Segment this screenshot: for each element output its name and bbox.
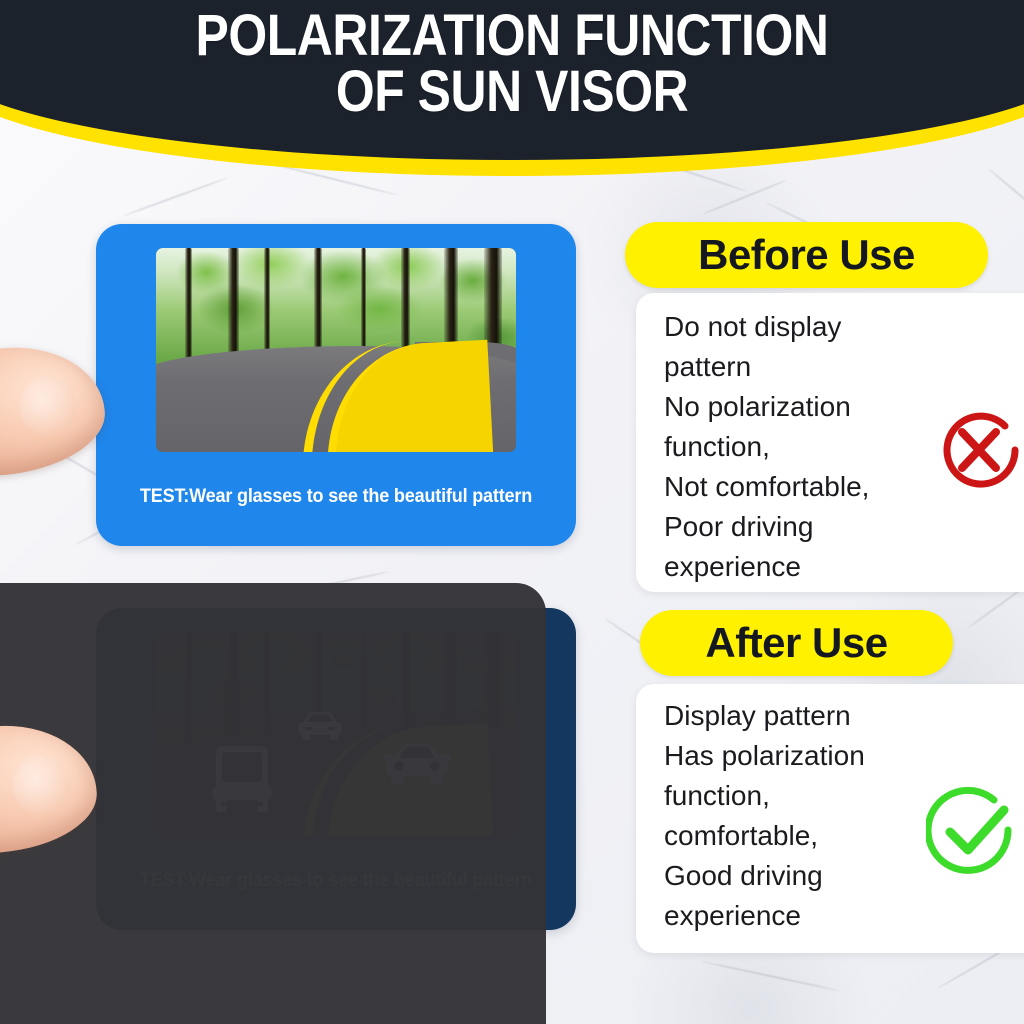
fingernail: [17, 373, 81, 440]
tree-trunk: [264, 248, 270, 362]
card-caption: TEST:Wear glasses to see the beautiful p…: [108, 486, 564, 508]
info-text-before-use: Do not display pattern No polarization f…: [664, 307, 964, 587]
header-banner: POLARIZATION FUNCTION OF SUN VISOR: [0, 0, 1024, 180]
demo-card-before-use: TEST:Wear glasses to see the beautiful p…: [96, 224, 576, 546]
tree-trunk: [361, 248, 366, 350]
fingernail: [11, 753, 72, 818]
badge-before-use: Before Use: [625, 222, 988, 288]
info-text-after-use: Display pattern Has polarization functio…: [664, 696, 964, 936]
cross-circle-icon: [932, 404, 1024, 496]
badge-after-use: After Use: [640, 610, 953, 676]
forest-road-scene-before: [156, 248, 516, 452]
page-title: POLARIZATION FUNCTION OF SUN VISOR: [20, 8, 1004, 120]
check-circle-icon: [926, 784, 1022, 880]
tree-trunk: [314, 248, 322, 354]
infographic-page: POLARIZATION FUNCTION OF SUN VISOR TEST:…: [0, 0, 1024, 1024]
